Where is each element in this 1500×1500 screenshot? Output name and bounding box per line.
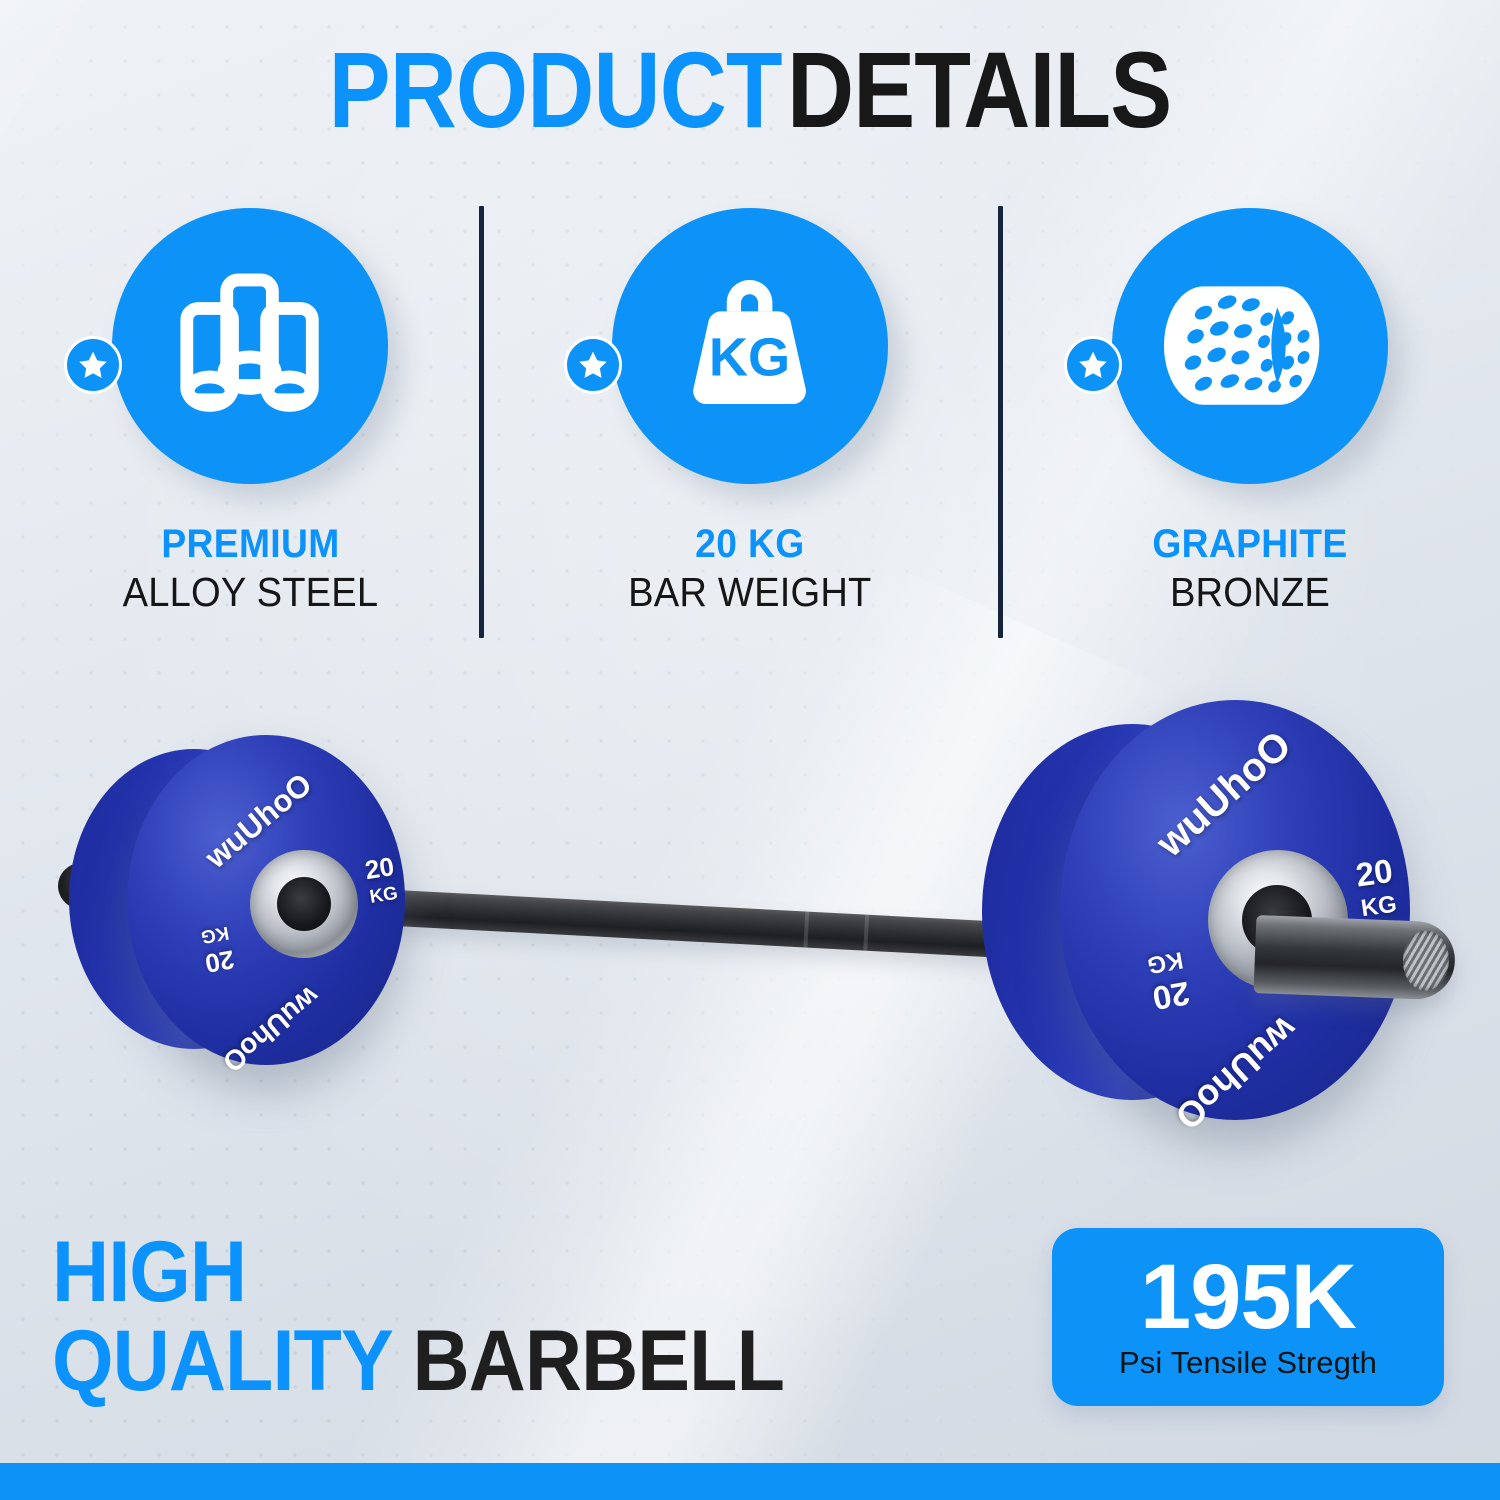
page-title: PRODUCTDETAILS — [105, 34, 1395, 146]
barbell-right-sleeve — [1254, 915, 1457, 1001]
weight-plate-left: wuUhoO wuUhoO 20 KG 20 KG — [75, 735, 405, 1065]
feature-label-bar-weight: 20 KG BAR WEIGHT — [619, 524, 881, 613]
feature-divider-2 — [998, 206, 1003, 638]
headline-line2-secondary: BARBELL — [412, 1313, 784, 1409]
feature-item-bar-weight[interactable]: KG 20 KG BAR WEIGHT — [500, 196, 1000, 666]
feature-label-line1: 20 KG — [628, 524, 871, 566]
feature-label-graphite-bronze: GRAPHITE BRONZE — [1145, 524, 1355, 613]
steel-tubes-icon — [112, 208, 388, 484]
feature-row: PREMIUM ALLOY STEEL KG 20 KG BAR WEIGHT — [0, 196, 1500, 666]
footer-accent-bar — [0, 1463, 1500, 1500]
feature-label-line2: BRONZE — [1152, 571, 1347, 614]
feature-item-graphite-bronze[interactable]: GRAPHITE BRONZE — [1000, 196, 1500, 666]
porous-bushing-icon — [1112, 208, 1388, 484]
psi-tensile-strength-badge: 195K Psi Tensile Stregth — [1052, 1228, 1444, 1406]
kg-weight-icon: KG — [612, 208, 888, 484]
page-title-secondary: DETAILS — [787, 29, 1171, 150]
headline-line1: HIGH — [52, 1224, 246, 1320]
svg-text:KG: KG — [709, 328, 790, 388]
barbell-knurl-mark-2 — [863, 915, 869, 951]
page-title-primary: PRODUCT — [329, 29, 782, 150]
feature-label-line1: PREMIUM — [122, 524, 378, 566]
barbell-knurl-mark-1 — [803, 911, 809, 947]
feature-icon-wrap-bar-weight: KG — [612, 208, 888, 484]
star-icon — [1064, 336, 1122, 394]
product-image-barbell: wuUhoO wuUhoO 20 KG 20 KG wuUhoO wuUhoO … — [0, 690, 1500, 1230]
feature-label-line1: GRAPHITE — [1152, 524, 1347, 566]
star-icon — [64, 336, 122, 394]
feature-label-alloy-steel: PREMIUM ALLOY STEEL — [113, 524, 388, 613]
feature-label-line2: BAR WEIGHT — [628, 571, 871, 614]
feature-item-alloy-steel[interactable]: PREMIUM ALLOY STEEL — [0, 196, 500, 666]
psi-value: 195K — [1140, 1253, 1356, 1341]
feature-icon-wrap-alloy-steel — [112, 208, 388, 484]
feature-label-line2: ALLOY STEEL — [122, 571, 378, 614]
headline-line2-primary: QUALITY — [52, 1313, 391, 1409]
weight-plate-right: wuUhoO wuUhoO 20 KG 20 KG — [990, 700, 1410, 1120]
feature-divider-1 — [479, 206, 484, 638]
bottom-headline: HIGH QUALITY BARBELL — [52, 1228, 784, 1405]
feature-icon-wrap-graphite-bronze — [1112, 208, 1388, 484]
psi-caption: Psi Tensile Stregth — [1119, 1345, 1377, 1381]
barbell-right-end-cap — [1402, 930, 1450, 992]
weight-plate-left-bore — [277, 877, 331, 931]
star-icon — [564, 336, 622, 394]
